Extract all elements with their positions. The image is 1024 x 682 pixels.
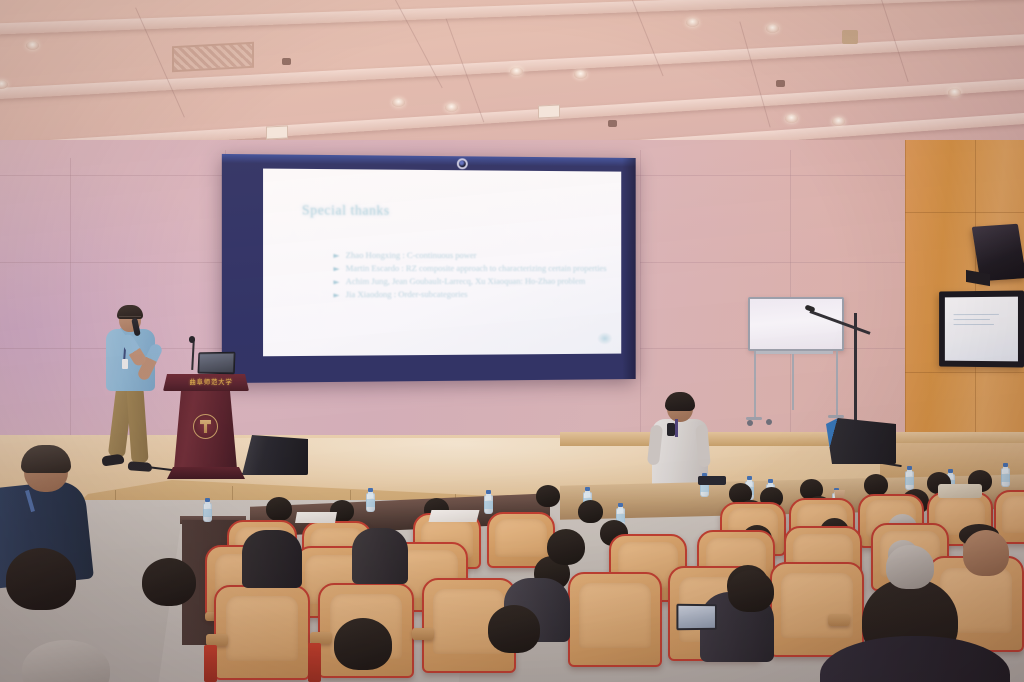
water-bottle	[366, 488, 375, 512]
audience-bag	[938, 484, 982, 498]
wall-mounted-monitor	[939, 290, 1024, 367]
ceiling-spotlight	[445, 103, 458, 112]
slide-title: Special thanks	[302, 202, 390, 219]
foreground-head-dark	[6, 548, 76, 610]
podium-university-name: 曲阜师范大学	[181, 377, 241, 386]
stage-monitor-speaker	[242, 435, 308, 475]
ceiling-spotlight	[948, 88, 961, 97]
ceiling-projector-mount	[842, 30, 858, 44]
lectern-podium: 曲阜师范大学	[163, 368, 249, 483]
smoke-detector-icon	[608, 120, 617, 127]
seat-side-panel	[308, 643, 321, 682]
water-bottle	[203, 498, 212, 522]
foreground-head-gray	[886, 545, 934, 589]
ceiling-spotlight	[392, 98, 405, 107]
auditorium-photo: Special thanks Zhao Hongxing : C-continu…	[0, 0, 1024, 682]
mobile-phone-icon	[667, 423, 675, 436]
audience-head	[578, 500, 603, 523]
ceiling-emergency-light	[538, 104, 560, 118]
foreground-head-dark	[334, 618, 392, 670]
water-bottle	[905, 466, 914, 490]
water-bottle	[484, 490, 493, 514]
audience-torso	[242, 530, 302, 588]
audience-head	[266, 497, 292, 521]
seat-side-panel	[204, 645, 217, 682]
water-bottle	[1001, 463, 1010, 487]
audience-head	[536, 485, 560, 507]
whiteboard-caster	[766, 419, 772, 425]
audience-torso	[352, 528, 408, 584]
podium-laptop	[197, 352, 235, 375]
seat-armrest	[828, 614, 850, 626]
ceiling-emergency-light	[266, 125, 288, 139]
ceiling-spotlight	[510, 67, 523, 76]
audience-head	[142, 558, 196, 606]
ceiling-spotlight	[832, 117, 845, 126]
foreground-head-dark	[488, 605, 540, 653]
ceiling-spotlight	[766, 24, 779, 33]
foreground-head-skin	[963, 530, 1009, 576]
whiteboard-marker-tray	[755, 351, 833, 354]
audience-papers	[295, 512, 337, 523]
audience-head	[547, 529, 585, 565]
camera-dot-icon	[457, 158, 468, 169]
screen-shadow	[622, 158, 635, 379]
ceiling-air-vent	[172, 42, 254, 73]
mobile-whiteboard	[748, 297, 844, 351]
seat-armrest	[412, 628, 434, 640]
ceiling-spotlight	[785, 114, 798, 123]
podium-base	[167, 467, 245, 479]
slide-bullet: Zhao Hongxing : C-continuous power	[332, 250, 609, 262]
audience-head	[864, 474, 888, 496]
mic-stand-pole	[854, 313, 857, 425]
presenter-person	[100, 307, 162, 482]
audience-papers	[429, 510, 480, 522]
slide-bullet: Achim Jung, Jean Goubault-Larrecq, Xu Xi…	[332, 276, 609, 288]
slide-bullet: Martin Escardo : RZ composite approach t…	[332, 263, 609, 275]
audience-laptop	[698, 476, 726, 485]
auditorium-seat[interactable]	[568, 572, 662, 667]
university-crest-icon	[193, 414, 218, 439]
name-badge	[122, 359, 128, 369]
ceiling-spotlight	[686, 18, 699, 27]
projection-screen: Special thanks Zhao Hongxing : C-continu…	[222, 154, 636, 383]
monitor-screen	[945, 297, 1018, 362]
ceiling-spotlight	[574, 70, 587, 79]
whiteboard-assembly	[748, 297, 848, 427]
whiteboard-caster	[747, 420, 753, 426]
gooseneck-microphone-icon	[189, 336, 195, 343]
stage-speaker-blue-face	[826, 418, 896, 464]
ceiling-spotlight	[26, 41, 39, 50]
smoke-detector-icon	[282, 58, 291, 65]
slide-watermark-icon	[597, 332, 612, 345]
smoke-detector-icon	[776, 80, 785, 87]
auditorium-seat[interactable]	[214, 585, 310, 680]
auditorium-seat[interactable]	[770, 562, 864, 657]
foreground-head-dark	[728, 570, 774, 612]
presentation-slide: Special thanks Zhao Hongxing : C-continu…	[263, 169, 621, 357]
slide-bullet-list: Zhao Hongxing : C-continuous power Marti…	[332, 250, 609, 303]
slide-bullet: Jia Xiaodong : Order-subcategories	[332, 289, 609, 301]
audience-laptop	[676, 604, 716, 631]
